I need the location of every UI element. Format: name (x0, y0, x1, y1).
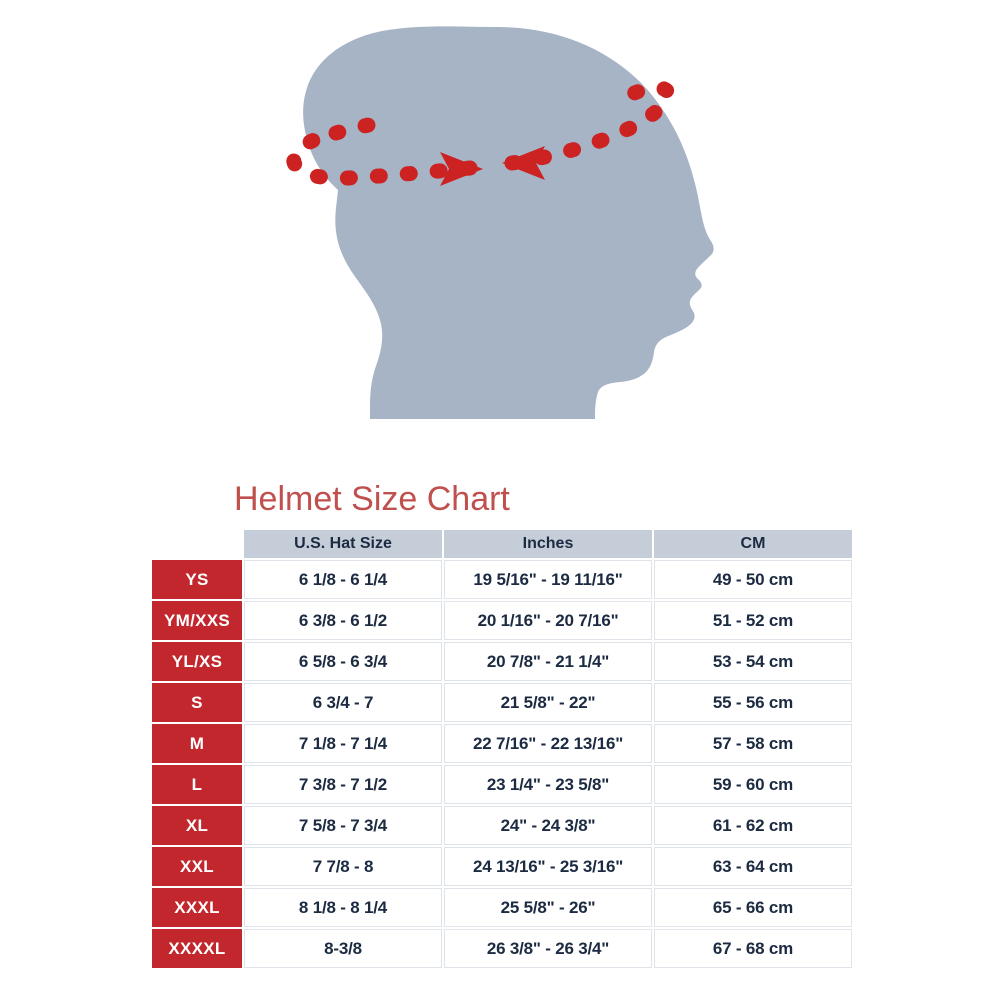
column-header-us-hat-size: U.S. Hat Size (244, 530, 442, 558)
table-row: L7 3/8 - 7 1/223 1/4" - 23 5/8"59 - 60 c… (152, 765, 852, 804)
column-header-cm: CM (654, 530, 852, 558)
helmet-size-table: U.S. Hat Size Inches CM YS6 1/8 - 6 1/41… (150, 528, 854, 970)
us-hat-size-cell: 6 5/8 - 6 3/4 (244, 642, 442, 681)
cm-cell: 59 - 60 cm (654, 765, 852, 804)
inches-cell: 25 5/8" - 26" (444, 888, 652, 927)
inches-cell: 19 5/16" - 19 11/16" (444, 560, 652, 599)
table-row: XL7 5/8 - 7 3/424" - 24 3/8"61 - 62 cm (152, 806, 852, 845)
table-body: YS6 1/8 - 6 1/419 5/16" - 19 11/16"49 - … (152, 560, 852, 968)
cm-cell: 49 - 50 cm (654, 560, 852, 599)
inches-cell: 21 5/8" - 22" (444, 683, 652, 722)
size-label-cell: L (152, 765, 242, 804)
size-label-cell: YS (152, 560, 242, 599)
us-hat-size-cell: 6 3/8 - 6 1/2 (244, 601, 442, 640)
inches-cell: 23 1/4" - 23 5/8" (444, 765, 652, 804)
table-header: U.S. Hat Size Inches CM (152, 530, 852, 558)
column-header-size (152, 530, 242, 558)
size-label-cell: YL/XS (152, 642, 242, 681)
us-hat-size-cell: 7 3/8 - 7 1/2 (244, 765, 442, 804)
head-profile-svg (0, 0, 1000, 470)
us-hat-size-cell: 7 1/8 - 7 1/4 (244, 724, 442, 763)
cm-cell: 65 - 66 cm (654, 888, 852, 927)
size-label-cell: YM/XXS (152, 601, 242, 640)
table-row: YM/XXS6 3/8 - 6 1/220 1/16" - 20 7/16"51… (152, 601, 852, 640)
table-header-row: U.S. Hat Size Inches CM (152, 530, 852, 558)
inches-cell: 22 7/16" - 22 13/16" (444, 724, 652, 763)
us-hat-size-cell: 7 7/8 - 8 (244, 847, 442, 886)
cm-cell: 53 - 54 cm (654, 642, 852, 681)
inches-cell: 26 3/8" - 26 3/4" (444, 929, 652, 968)
helmet-size-chart-block: Helmet Size Chart U.S. Hat Size Inches C… (150, 472, 850, 970)
table-row: YS6 1/8 - 6 1/419 5/16" - 19 11/16"49 - … (152, 560, 852, 599)
inches-cell: 24 13/16" - 25 3/16" (444, 847, 652, 886)
page-title: Helmet Size Chart (150, 472, 850, 528)
cm-cell: 67 - 68 cm (654, 929, 852, 968)
size-label-cell: XL (152, 806, 242, 845)
cm-cell: 55 - 56 cm (654, 683, 852, 722)
cm-cell: 51 - 52 cm (654, 601, 852, 640)
column-header-inches: Inches (444, 530, 652, 558)
inches-cell: 24" - 24 3/8" (444, 806, 652, 845)
table-row: YL/XS6 5/8 - 6 3/420 7/8" - 21 1/4"53 - … (152, 642, 852, 681)
us-hat-size-cell: 6 3/4 - 7 (244, 683, 442, 722)
us-hat-size-cell: 6 1/8 - 6 1/4 (244, 560, 442, 599)
size-label-cell: XXXXL (152, 929, 242, 968)
size-label-cell: XXL (152, 847, 242, 886)
inches-cell: 20 7/8" - 21 1/4" (444, 642, 652, 681)
inches-cell: 20 1/16" - 20 7/16" (444, 601, 652, 640)
size-label-cell: S (152, 683, 242, 722)
cm-cell: 63 - 64 cm (654, 847, 852, 886)
cm-cell: 61 - 62 cm (654, 806, 852, 845)
table-row: M7 1/8 - 7 1/422 7/16" - 22 13/16"57 - 5… (152, 724, 852, 763)
size-label-cell: XXXL (152, 888, 242, 927)
table-row: XXXXL8-3/826 3/8" - 26 3/4"67 - 68 cm (152, 929, 852, 968)
us-hat-size-cell: 7 5/8 - 7 3/4 (244, 806, 442, 845)
table-row: S6 3/4 - 721 5/8" - 22"55 - 56 cm (152, 683, 852, 722)
size-label-cell: M (152, 724, 242, 763)
cm-cell: 57 - 58 cm (654, 724, 852, 763)
us-hat-size-cell: 8 1/8 - 8 1/4 (244, 888, 442, 927)
table-row: XXXL8 1/8 - 8 1/425 5/8" - 26"65 - 66 cm (152, 888, 852, 927)
head-illustration (0, 0, 1000, 470)
table-row: XXL7 7/8 - 824 13/16" - 25 3/16"63 - 64 … (152, 847, 852, 886)
us-hat-size-cell: 8-3/8 (244, 929, 442, 968)
